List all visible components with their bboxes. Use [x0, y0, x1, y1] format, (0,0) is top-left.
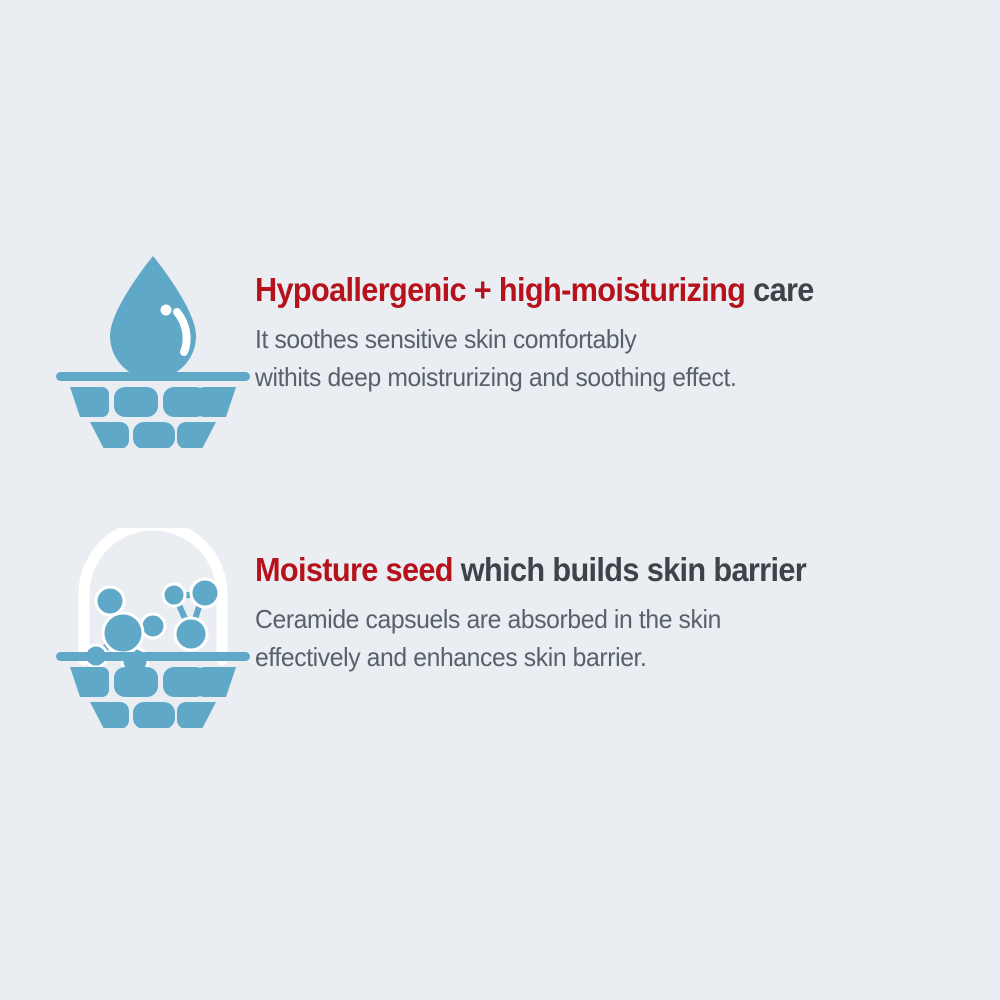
feature-heading-2: Moisture seed which builds skin barrier [255, 552, 948, 588]
skin-layers-bowl [56, 372, 250, 448]
feature-body-line: withits deep moistrurizing and soothing … [255, 359, 963, 396]
molecule-right [163, 579, 219, 650]
feature-icon-2 [0, 528, 255, 728]
feature-icon-1 [0, 248, 255, 448]
moisture-seed-capsule-on-skin-layers-icon [48, 528, 258, 728]
water-droplet-on-skin-layers-icon [48, 248, 258, 448]
product-feature-panel: Hypoallergenic + high-moisturizing care … [0, 0, 1000, 1000]
feature-heading-1: Hypoallergenic + high-moisturizing care [255, 272, 948, 308]
feature-text-1: Hypoallergenic + high-moisturizing care … [255, 248, 1000, 396]
feature-heading-accent: Moisture seed [255, 551, 453, 588]
feature-body-line: Ceramide capsuels are absorbed in the sk… [255, 601, 963, 638]
feature-body-1: It soothes sensitive skin comfortably wi… [255, 321, 963, 396]
feature-text-2: Moisture seed which builds skin barrier … [255, 528, 1000, 676]
feature-body-2: Ceramide capsuels are absorbed in the sk… [255, 601, 963, 676]
feature-body-line: effectively and enhances skin barrier. [255, 639, 963, 676]
feature-heading-accent: Hypoallergenic + high-moisturizing [255, 271, 745, 308]
droplet-shape [110, 256, 196, 379]
feature-heading-rest: care [745, 271, 813, 308]
feature-heading-rest: which builds skin barrier [453, 551, 806, 588]
feature-row-moisture-seed: Moisture seed which builds skin barrier … [0, 528, 1000, 728]
feature-body-line: It soothes sensitive skin comfortably [255, 321, 963, 358]
feature-row-hypoallergenic: Hypoallergenic + high-moisturizing care … [0, 248, 1000, 448]
